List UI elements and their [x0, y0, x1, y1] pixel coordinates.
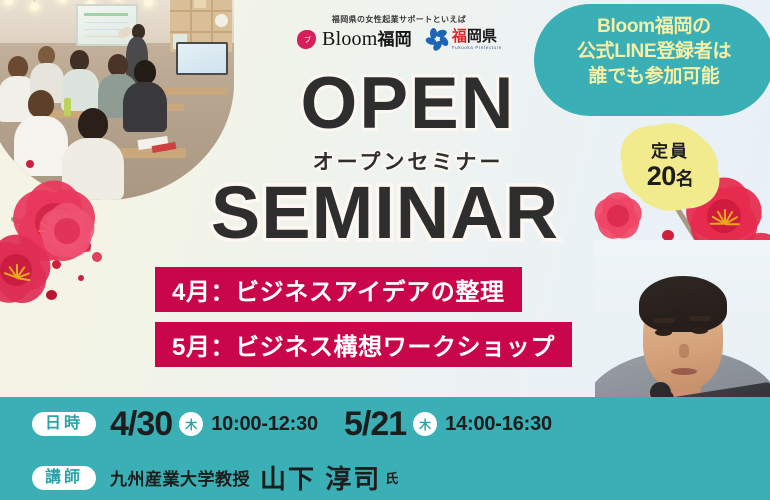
capacity-badge: 定員 20名: [622, 128, 718, 206]
session-band-may-label: 5月：ビジネス構想ワークショップ: [172, 327, 555, 362]
session-band-april-label: 4月：ビジネスアイデアの整理: [172, 272, 505, 307]
session-1-date: 4/30: [110, 407, 172, 441]
page-title-seminar: SEMINAR: [150, 176, 620, 250]
session-1-dayofweek: 木: [179, 412, 203, 436]
session-2-time: 14:00-16:30: [445, 413, 552, 436]
header-tagline: 福岡県の女性起業サポートといえば: [332, 14, 466, 25]
speaker-label-pill: 講師: [32, 466, 96, 490]
bloom-logo-jp: 福岡: [377, 30, 411, 49]
session-band-may: 5月：ビジネス構想ワークショップ: [155, 322, 572, 367]
capacity-number: 20: [647, 161, 676, 191]
capacity-unit: 名: [676, 169, 694, 189]
bloom-flower-icon: ブ: [296, 29, 317, 50]
session-band-april: 4月：ビジネスアイデアの整理: [155, 267, 522, 312]
capacity-label: 定員: [651, 143, 689, 162]
header-logos: 福岡県の女性起業サポートといえば ブ Bloom福岡: [268, 14, 530, 50]
session-2-dayofweek: 木: [413, 412, 437, 436]
session-1-time: 10:00-12:30: [211, 413, 318, 436]
speaker-name: 山下 淳司: [260, 459, 381, 496]
speaker-name-suffix: 氏: [385, 468, 398, 487]
schedule-label-pill: 日時: [32, 412, 96, 436]
fukuoka-flower-icon: [426, 28, 448, 50]
prefecture-romaji: Fukuoka Prefecture: [452, 45, 502, 50]
page-title-open: OPEN: [258, 70, 558, 137]
schedule-row: 日時 4/30 木 10:00-12:30 5/21 木 14:00-16:30: [32, 407, 552, 441]
prefecture-kanji-1: 福: [452, 28, 467, 45]
speaker-row: 講師 九州産業大学教授 山下 淳司 氏: [32, 459, 398, 496]
speech-bubble-text: Bloom福岡の 公式LINE登録者は 誰でも参加可能: [534, 14, 770, 89]
bubble-line-3: 誰でも参加可能: [534, 64, 770, 89]
bloom-fukuoka-logo: ブ Bloom福岡: [296, 29, 412, 50]
bloom-logo-text: Bloom: [322, 28, 377, 50]
speaker-affiliation: 九州産業大学教授: [110, 465, 250, 490]
prefecture-kanji-3: 県: [482, 28, 497, 45]
bubble-line-1: Bloom福岡の: [534, 14, 770, 39]
fukuoka-prefecture-logo: 福岡県 Fukuoka Prefecture: [426, 28, 502, 50]
prefecture-kanji-2: 岡: [467, 28, 482, 45]
session-2-date: 5/21: [344, 407, 406, 441]
plum-blossom-3: [32, 196, 102, 266]
seminar-poster: 福岡県の女性起業サポートといえば ブ Bloom福岡: [0, 0, 770, 500]
bubble-line-2: 公式LINE登録者は: [534, 39, 770, 64]
